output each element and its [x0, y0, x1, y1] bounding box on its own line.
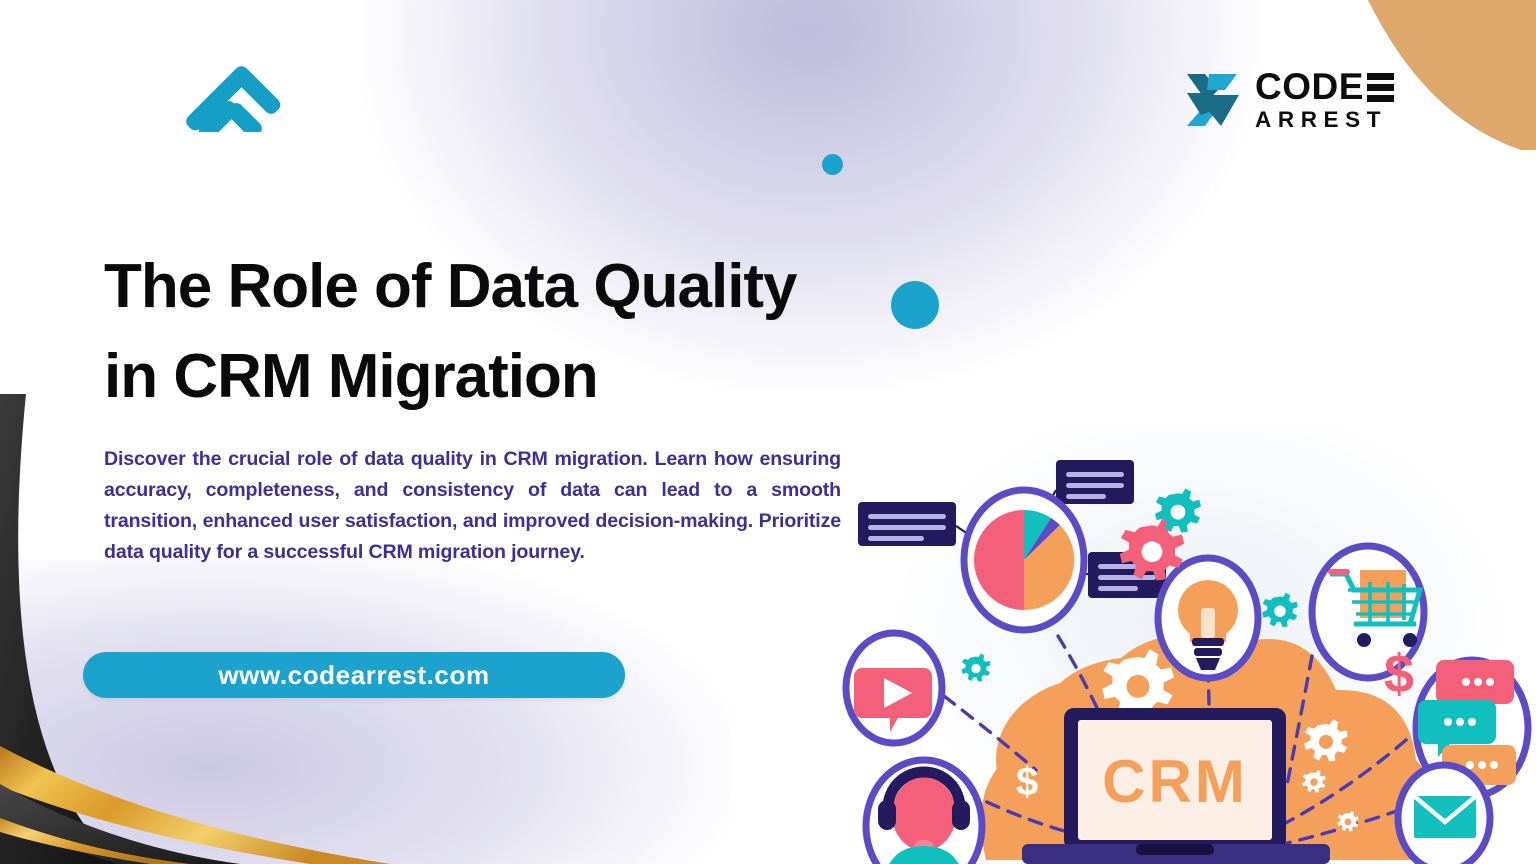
brand-name-arrest: ARREST — [1255, 109, 1394, 132]
page-title-line-2: in CRM Migration — [104, 332, 904, 422]
svg-text:$: $ — [1016, 760, 1038, 804]
brand-name-code: CODE — [1255, 68, 1364, 105]
gear-icon — [1262, 593, 1298, 628]
gear-icon — [961, 654, 990, 682]
page-title-line-1: The Role of Data Quality — [104, 252, 797, 321]
equals-bars-icon — [1367, 73, 1394, 102]
svg-text:$: $ — [1384, 644, 1414, 704]
video-play-bubble-icon — [846, 633, 942, 743]
cyan-dot-small-icon — [822, 154, 843, 175]
page-title: The Role of Data Quality in CRM Migratio… — [104, 242, 904, 422]
codearrest-x-mark-icon — [1185, 71, 1243, 129]
dollar-sign-icon: $ — [1384, 644, 1414, 704]
page-description: Discover the crucial role of data qualit… — [104, 444, 841, 569]
envelope-mail-icon — [1398, 765, 1490, 864]
website-url-label: www.codearrest.com — [218, 660, 489, 691]
laptop-screen-text: CRM — [1102, 748, 1248, 815]
brand-logo[interactable]: CODE ARREST — [1185, 55, 1400, 145]
dollar-sign-icon: $ — [1016, 760, 1038, 804]
pie-chart-icon — [964, 490, 1084, 630]
headset-agent-icon — [866, 760, 982, 864]
laptop-device: CRM — [1022, 708, 1330, 864]
website-url-button[interactable]: www.codearrest.com — [83, 652, 625, 698]
chevron-arrow-logo-icon[interactable] — [183, 60, 283, 132]
lightbulb-icon — [1158, 558, 1258, 678]
poster-canvas: CODE ARREST The Role of Data Quality in … — [0, 0, 1536, 864]
crm-ecosystem-illustration: .pRing{ fill:#fff; stroke:#5b4bc4; strok… — [836, 440, 1536, 864]
